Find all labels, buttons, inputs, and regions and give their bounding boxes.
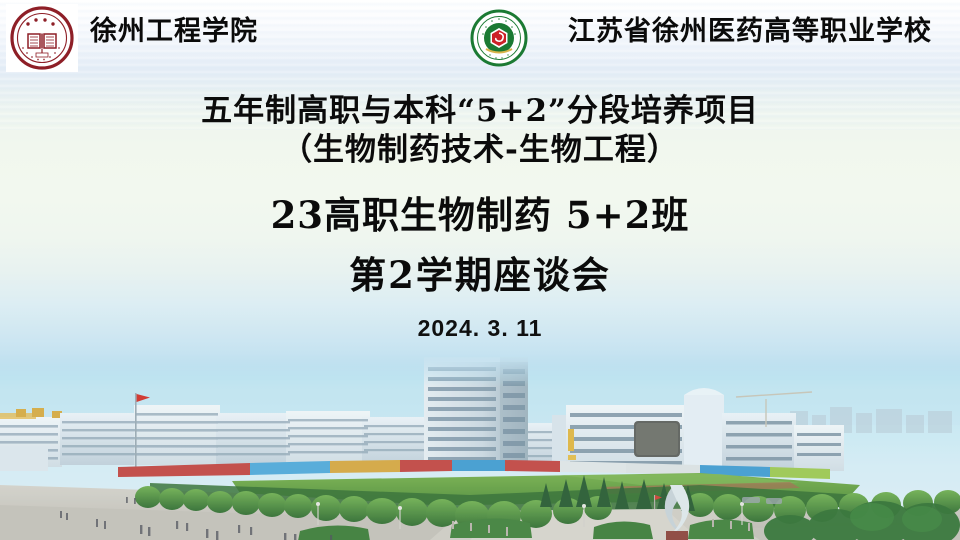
meeting-name-line: 第2学期座谈会 — [0, 252, 960, 298]
meeting-date: 2024. 3. 11 — [0, 314, 960, 342]
right-organization-name: 江苏省徐州医药高等职业学校 — [568, 18, 932, 45]
class-name-line: 23高职生物制药 5+2班 — [0, 192, 960, 238]
left-organization-name: 徐州工程学院 — [90, 18, 258, 45]
slide-header: 徐州工程学院 江苏省徐州医药高等职业学校 — [0, 0, 960, 72]
project-title-line: 五年制高职与本科“5+2”分段培养项目 — [0, 92, 960, 130]
campus-scene-illustration — [0, 355, 960, 540]
xuzhou-university-of-technology-seal-icon — [6, 4, 78, 72]
jiangsu-xuzhou-medical-vocational-school-seal-icon — [470, 9, 528, 67]
campus-panorama-photo — [0, 355, 960, 540]
major-title-line: （生物制药技术-生物工程） — [0, 130, 960, 170]
title-block: 五年制高职与本科“5+2”分段培养项目 （生物制药技术-生物工程） 23高职生物… — [0, 92, 960, 342]
left-logo-container — [6, 4, 78, 72]
presentation-slide: 徐州工程学院 江苏省徐州医药高等职业学校 五年制高 — [0, 0, 960, 540]
